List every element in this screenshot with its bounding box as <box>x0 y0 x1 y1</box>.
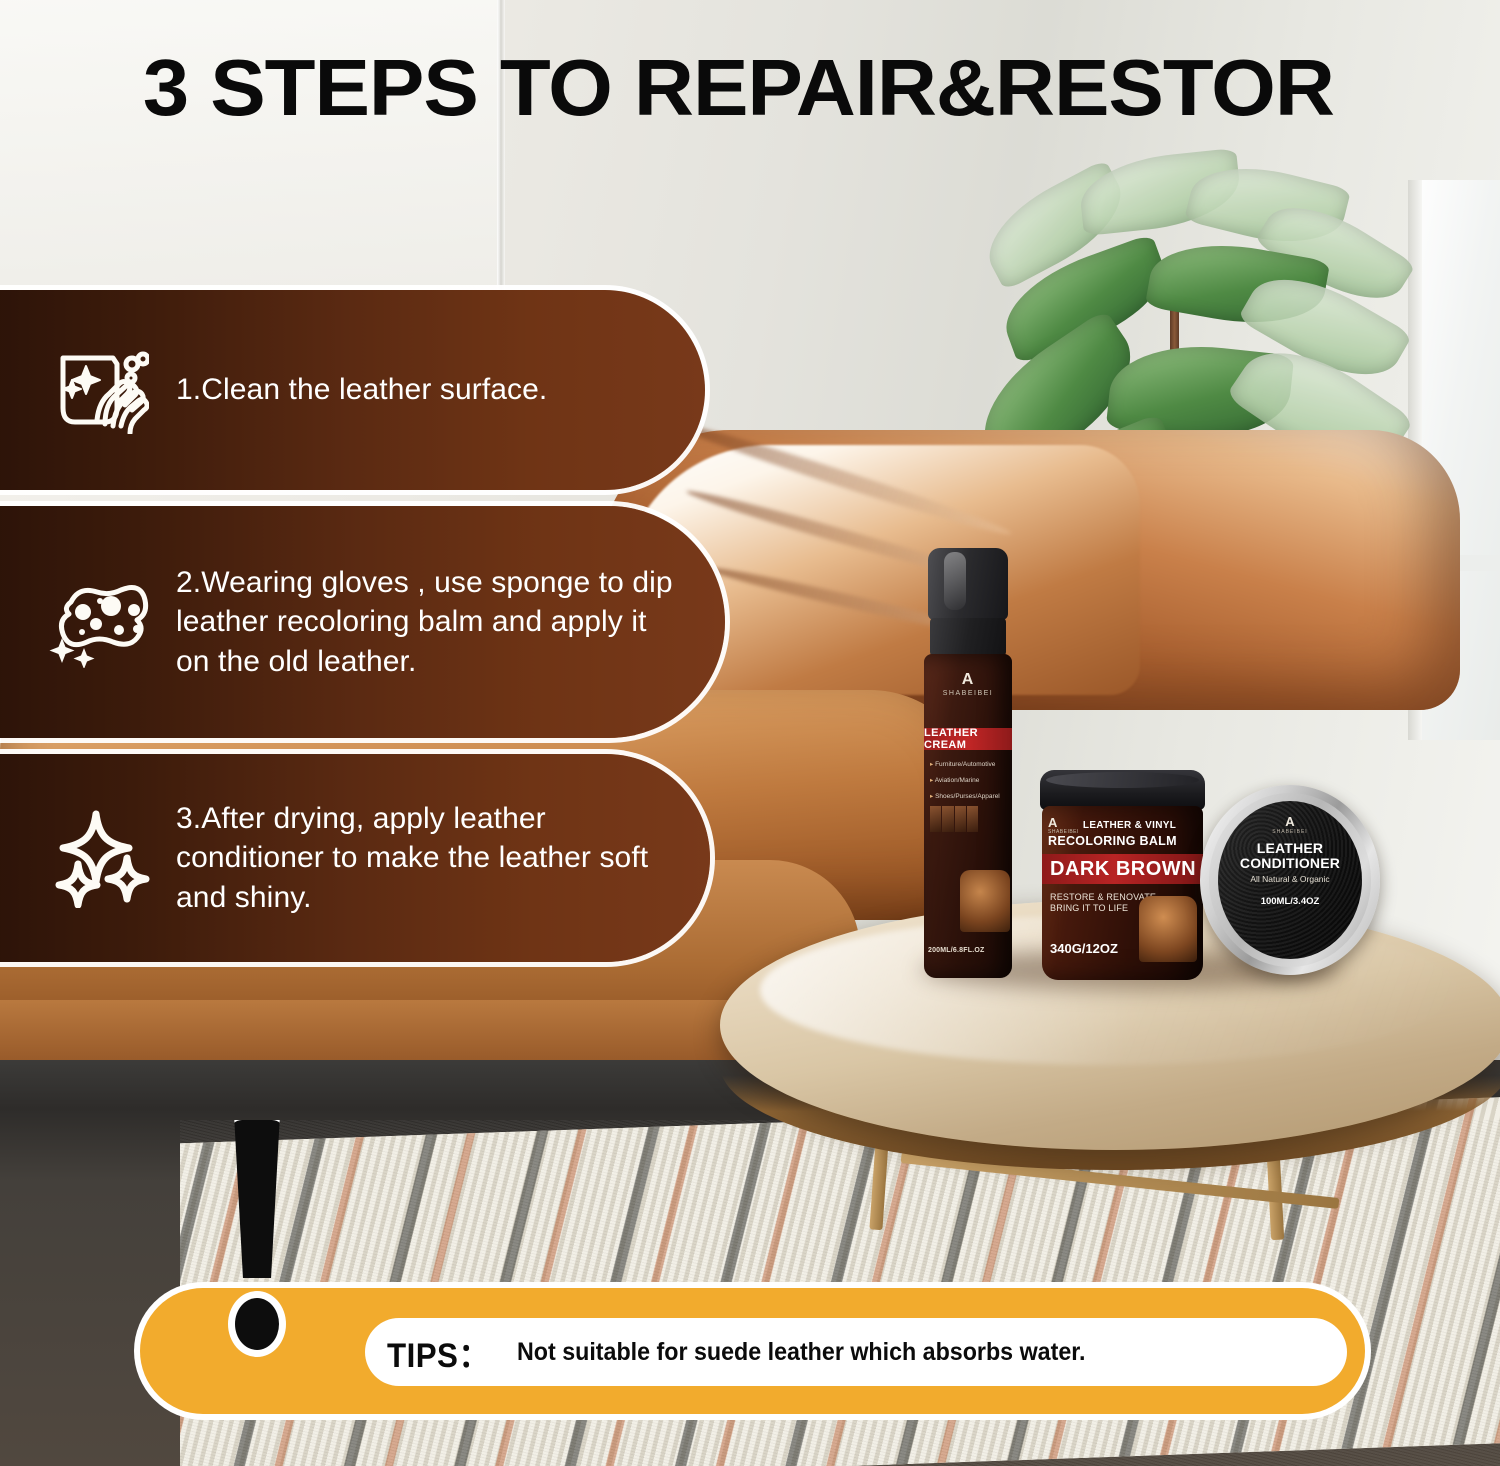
page-title: 3 STEPS TO REPAIR&RESTOR <box>0 42 1477 134</box>
brand-mark-icon: A <box>924 672 1012 688</box>
sparkles-icon <box>0 808 176 908</box>
jar-body: A SHABEIBEI LEATHER & VINYL RECOLORING B… <box>1042 806 1203 980</box>
tin-volume: 100ML/3.4OZ <box>1218 896 1362 907</box>
bottle-title-band: LEATHER CREAM <box>924 728 1012 750</box>
leather-conditioner-tin: A SHABEIBEI LEATHER CONDITIONER All Natu… <box>1200 785 1380 975</box>
bottle-armchair-image <box>960 870 1010 932</box>
jar-line1: LEATHER & VINYL <box>1083 820 1176 831</box>
clean-cloth-hand-icon <box>0 346 176 434</box>
tin-label-face: A SHABEIBEI LEATHER CONDITIONER All Natu… <box>1218 801 1362 959</box>
bottle-brand: SHABEIBEI <box>924 690 1012 697</box>
tips-text: Not suitable for suede leather which abs… <box>517 1338 1085 1367</box>
step-text-3: 3.After drying, apply leather conditione… <box>176 799 710 918</box>
tin-title-line1: LEATHER <box>1218 841 1362 856</box>
tin-brand: SHABEIBEI <box>1218 829 1362 835</box>
step-item-1[interactable]: 1.Clean the leather surface. <box>0 290 705 490</box>
bottle-bullet: Aviation/Marine <box>930 776 1000 784</box>
bottle-volume: 200ML/6.8FL.OZ <box>928 947 984 954</box>
bottle-title: LEATHER CREAM <box>924 727 1012 751</box>
jar-volume: 340G/12OZ <box>1050 941 1118 956</box>
jar-brand-row: A SHABEIBEI LEATHER & VINYL <box>1048 816 1176 835</box>
bottle-cap <box>928 548 1008 620</box>
leather-cream-bottle: A SHABEIBEI LEATHER CREAM Furniture/Auto… <box>920 548 1016 978</box>
tips-label: TIPS： <box>387 1328 490 1377</box>
steps-list: 1.Clean the leather surface. 2 <box>0 290 760 978</box>
step-text-2: 2.Wearing gloves , use sponge to dip lea… <box>176 563 725 682</box>
sponge-icon <box>0 576 176 668</box>
jar-shade: DARK BROWN <box>1042 858 1196 881</box>
product-group: A SHABEIBEI LEATHER CREAM Furniture/Auto… <box>900 540 1420 990</box>
jar-lid <box>1040 770 1205 810</box>
bottle-bullet: Shoes/Purses/Apparel <box>930 792 1000 800</box>
brand-mark-icon: A <box>1048 816 1079 829</box>
bottle-thumbnail-strip <box>930 806 978 832</box>
exclamation-bar <box>230 1120 284 1278</box>
step-item-2[interactable]: 2.Wearing gloves , use sponge to dip lea… <box>0 506 725 738</box>
bottle-bullets: Furniture/Automotive Aviation/Marine Sho… <box>930 760 1000 808</box>
step-text-1: 1.Clean the leather surface. <box>176 370 589 410</box>
jar-armchair-image <box>1139 896 1197 962</box>
tips-banner: TIPS： Not suitable for suede leather whi… <box>140 1120 1365 1410</box>
exclamation-icon <box>222 1120 292 1370</box>
jar-lid-top <box>1046 772 1199 788</box>
tips-text-pill: TIPS： Not suitable for suede leather whi… <box>365 1318 1347 1386</box>
jar-line2: RECOLORING BALM <box>1048 834 1177 848</box>
tin-subtitle: All Natural & Organic <box>1218 874 1362 884</box>
cap-gloss <box>944 552 966 610</box>
exclamation-dot <box>235 1298 279 1350</box>
bottle-body: A SHABEIBEI LEATHER CREAM Furniture/Auto… <box>924 654 1012 978</box>
step-item-3[interactable]: 3.After drying, apply leather conditione… <box>0 754 710 962</box>
recoloring-balm-jar: A SHABEIBEI LEATHER & VINYL RECOLORING B… <box>1040 770 1205 980</box>
bottle-brand-block: A SHABEIBEI <box>924 672 1012 697</box>
bottle-bullet: Furniture/Automotive <box>930 760 1000 768</box>
jar-shade-band: DARK BROWN <box>1042 854 1203 884</box>
bottle-neck <box>930 618 1006 656</box>
infographic-page: A SHABEIBEI LEATHER CREAM Furniture/Auto… <box>0 0 1500 1466</box>
tin-title-line2: CONDITIONER <box>1218 856 1362 871</box>
